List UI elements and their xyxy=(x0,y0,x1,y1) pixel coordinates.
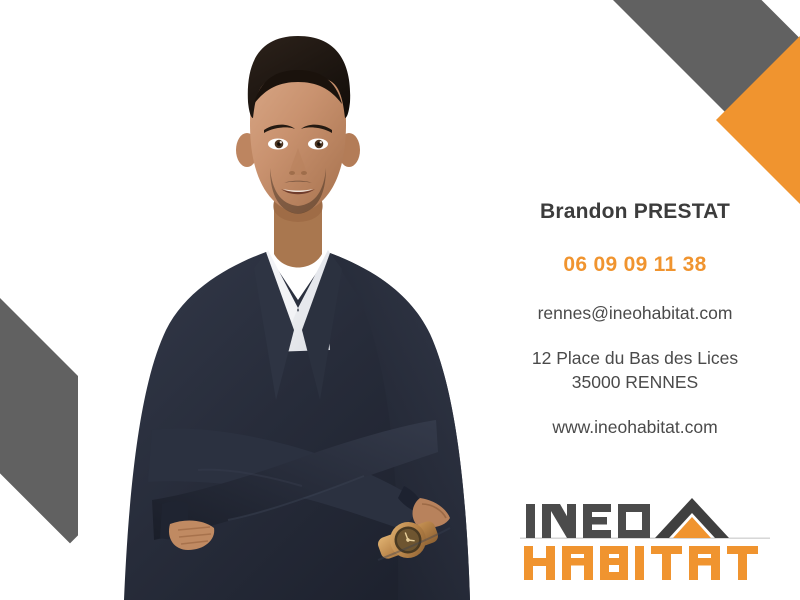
contact-address-line1: 12 Place du Bas des Lices xyxy=(532,348,738,368)
contact-address: 12 Place du Bas des Lices 35000 RENNES xyxy=(500,347,770,393)
roof-chevron-icon xyxy=(655,498,729,538)
contact-email[interactable]: rennes@ineohabitat.com xyxy=(500,304,770,323)
orange-diagonal-left-decoration xyxy=(0,418,82,600)
contact-phone[interactable]: 06 09 09 11 38 xyxy=(500,253,770,276)
contact-website[interactable]: www.ineohabitat.com xyxy=(500,418,770,437)
business-card: Brandon PRESTAT 06 09 09 11 38 rennes@in… xyxy=(0,0,800,600)
logo-word-habitat xyxy=(524,546,758,580)
contact-details: Brandon PRESTAT 06 09 09 11 38 rennes@in… xyxy=(500,200,770,437)
ineo-habitat-logo[interactable] xyxy=(520,492,770,587)
contact-address-line2: 35000 RENNES xyxy=(572,372,698,392)
contact-name: Brandon PRESTAT xyxy=(500,200,770,223)
logo-word-ineo xyxy=(526,504,650,538)
portrait-photo xyxy=(78,0,508,600)
